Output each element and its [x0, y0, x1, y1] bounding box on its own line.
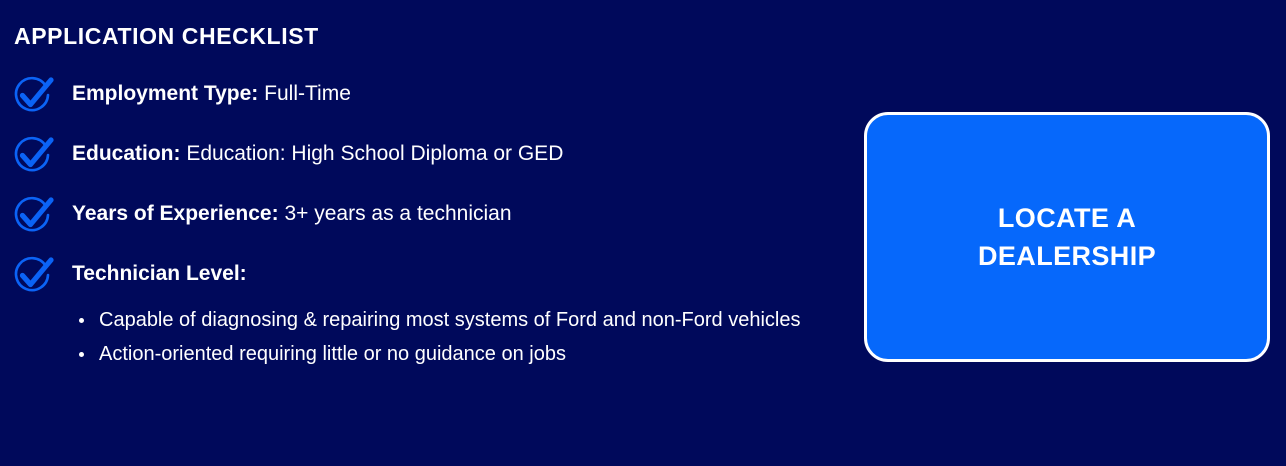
list-item: Capable of diagnosing & repairing most s…: [0, 303, 830, 337]
checklist-item-label: Employment Type:: [72, 82, 258, 105]
locate-a-dealership-button[interactable]: LOCATE A DEALERSHIP: [864, 112, 1270, 362]
checklist-item-label: Technician Level:: [72, 262, 247, 285]
list-item-label: Capable of diagnosing & repairing most s…: [99, 309, 800, 331]
checklist-item-label: Education:: [72, 142, 181, 165]
checklist-item-text: Years of Experience: 3+ years as a techn…: [72, 201, 512, 227]
checklist-item-years-of-experience: Years of Experience: 3+ years as a techn…: [0, 190, 830, 250]
checklist-item-education: Education: Education: High School Diplom…: [0, 130, 830, 190]
locate-a-dealership-button-label: LOCATE A DEALERSHIP: [978, 199, 1156, 275]
bullet-icon: [79, 352, 84, 357]
check-circle-icon: [10, 253, 54, 297]
checklist-item-text: Education: Education: High School Diplom…: [72, 141, 563, 167]
page-title: APPLICATION CHECKLIST: [14, 22, 319, 50]
technician-level-sublist: Capable of diagnosing & repairing most s…: [0, 303, 830, 371]
checklist: Employment Type: Full-Time Education: Ed…: [0, 70, 830, 310]
checklist-item-technician-level: Technician Level:: [0, 250, 830, 310]
checklist-item-value: Education: High School Diploma or GED: [186, 142, 563, 165]
checklist-item-text: Employment Type: Full-Time: [72, 81, 351, 107]
check-circle-icon: [10, 73, 54, 117]
bullet-icon: [79, 318, 84, 323]
check-circle-icon: [10, 133, 54, 177]
check-circle-icon: [10, 193, 54, 237]
checklist-item-text: Technician Level:: [72, 261, 247, 287]
checklist-item-employment-type: Employment Type: Full-Time: [0, 70, 830, 130]
checklist-item-value: 3+ years as a technician: [284, 202, 511, 225]
list-item-label: Action-oriented requiring little or no g…: [99, 343, 566, 365]
list-item: Action-oriented requiring little or no g…: [0, 337, 830, 371]
application-checklist-panel: APPLICATION CHECKLIST Employment Type: F…: [0, 0, 1286, 466]
checklist-item-value: Full-Time: [264, 82, 351, 105]
checklist-item-label: Years of Experience:: [72, 202, 279, 225]
